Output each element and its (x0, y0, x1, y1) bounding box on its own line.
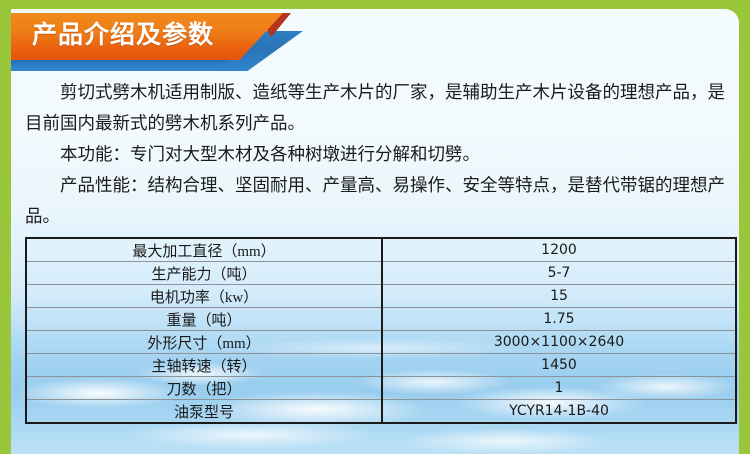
table-row: 主轴转速（转） 1450 (26, 354, 736, 377)
spec-label: 主轴转速（转） (26, 354, 382, 377)
description-paragraph: 产品性能：结构合理、坚固耐用、产量高、易操作、安全等特点，是替代带锯的理想产品。 (25, 170, 725, 232)
spec-value: 1.75 (382, 308, 736, 331)
spec-label: 油泵型号 (26, 400, 382, 424)
table-row: 最大加工直径（mm） 1200 (26, 238, 736, 262)
spec-label: 电机功率（kw） (26, 285, 382, 308)
spec-value: 1200 (382, 238, 736, 262)
section-banner: 产品介绍及参数 (11, 9, 739, 71)
spec-value: YCYR14-1B-40 (382, 400, 736, 424)
spec-label: 生产能力（吨） (26, 262, 382, 285)
product-spec-page: 产品介绍及参数 剪切式劈木机适用制版、造纸等生产木片的厂家，是辅助生产木片设备的… (0, 0, 750, 454)
spec-label: 外形尺寸（mm） (26, 331, 382, 354)
section-title: 产品介绍及参数 (32, 18, 214, 52)
table-row: 油泵型号 YCYR14-1B-40 (26, 400, 736, 424)
spec-value: 5-7 (382, 262, 736, 285)
spec-value: 3000×1100×2640 (382, 331, 736, 354)
spec-value: 15 (382, 285, 736, 308)
spec-value: 1450 (382, 354, 736, 377)
table-row: 生产能力（吨） 5-7 (26, 262, 736, 285)
table-row: 外形尺寸（mm） 3000×1100×2640 (26, 331, 736, 354)
spec-value: 1 (382, 377, 736, 400)
spec-label: 刀数（把） (26, 377, 382, 400)
table-row: 刀数（把） 1 (26, 377, 736, 400)
spec-table-container: 最大加工直径（mm） 1200 生产能力（吨） 5-7 电机功率（kw） 15 … (25, 237, 725, 424)
description-paragraph: 剪切式劈木机适用制版、造纸等生产木片的厂家，是辅助生产木片设备的理想产品，是目前… (25, 77, 725, 139)
product-description: 剪切式劈木机适用制版、造纸等生产木片的厂家，是辅助生产木片设备的理想产品，是目前… (25, 77, 725, 232)
content-plate: 产品介绍及参数 剪切式劈木机适用制版、造纸等生产木片的厂家，是辅助生产木片设备的… (11, 9, 739, 454)
spec-label: 重量（吨） (26, 308, 382, 331)
table-row: 电机功率（kw） 15 (26, 285, 736, 308)
description-paragraph: 本功能：专门对大型木材及各种树墩进行分解和切劈。 (25, 139, 725, 170)
table-row: 重量（吨） 1.75 (26, 308, 736, 331)
specification-table: 最大加工直径（mm） 1200 生产能力（吨） 5-7 电机功率（kw） 15 … (25, 237, 737, 424)
spec-label: 最大加工直径（mm） (26, 238, 382, 262)
